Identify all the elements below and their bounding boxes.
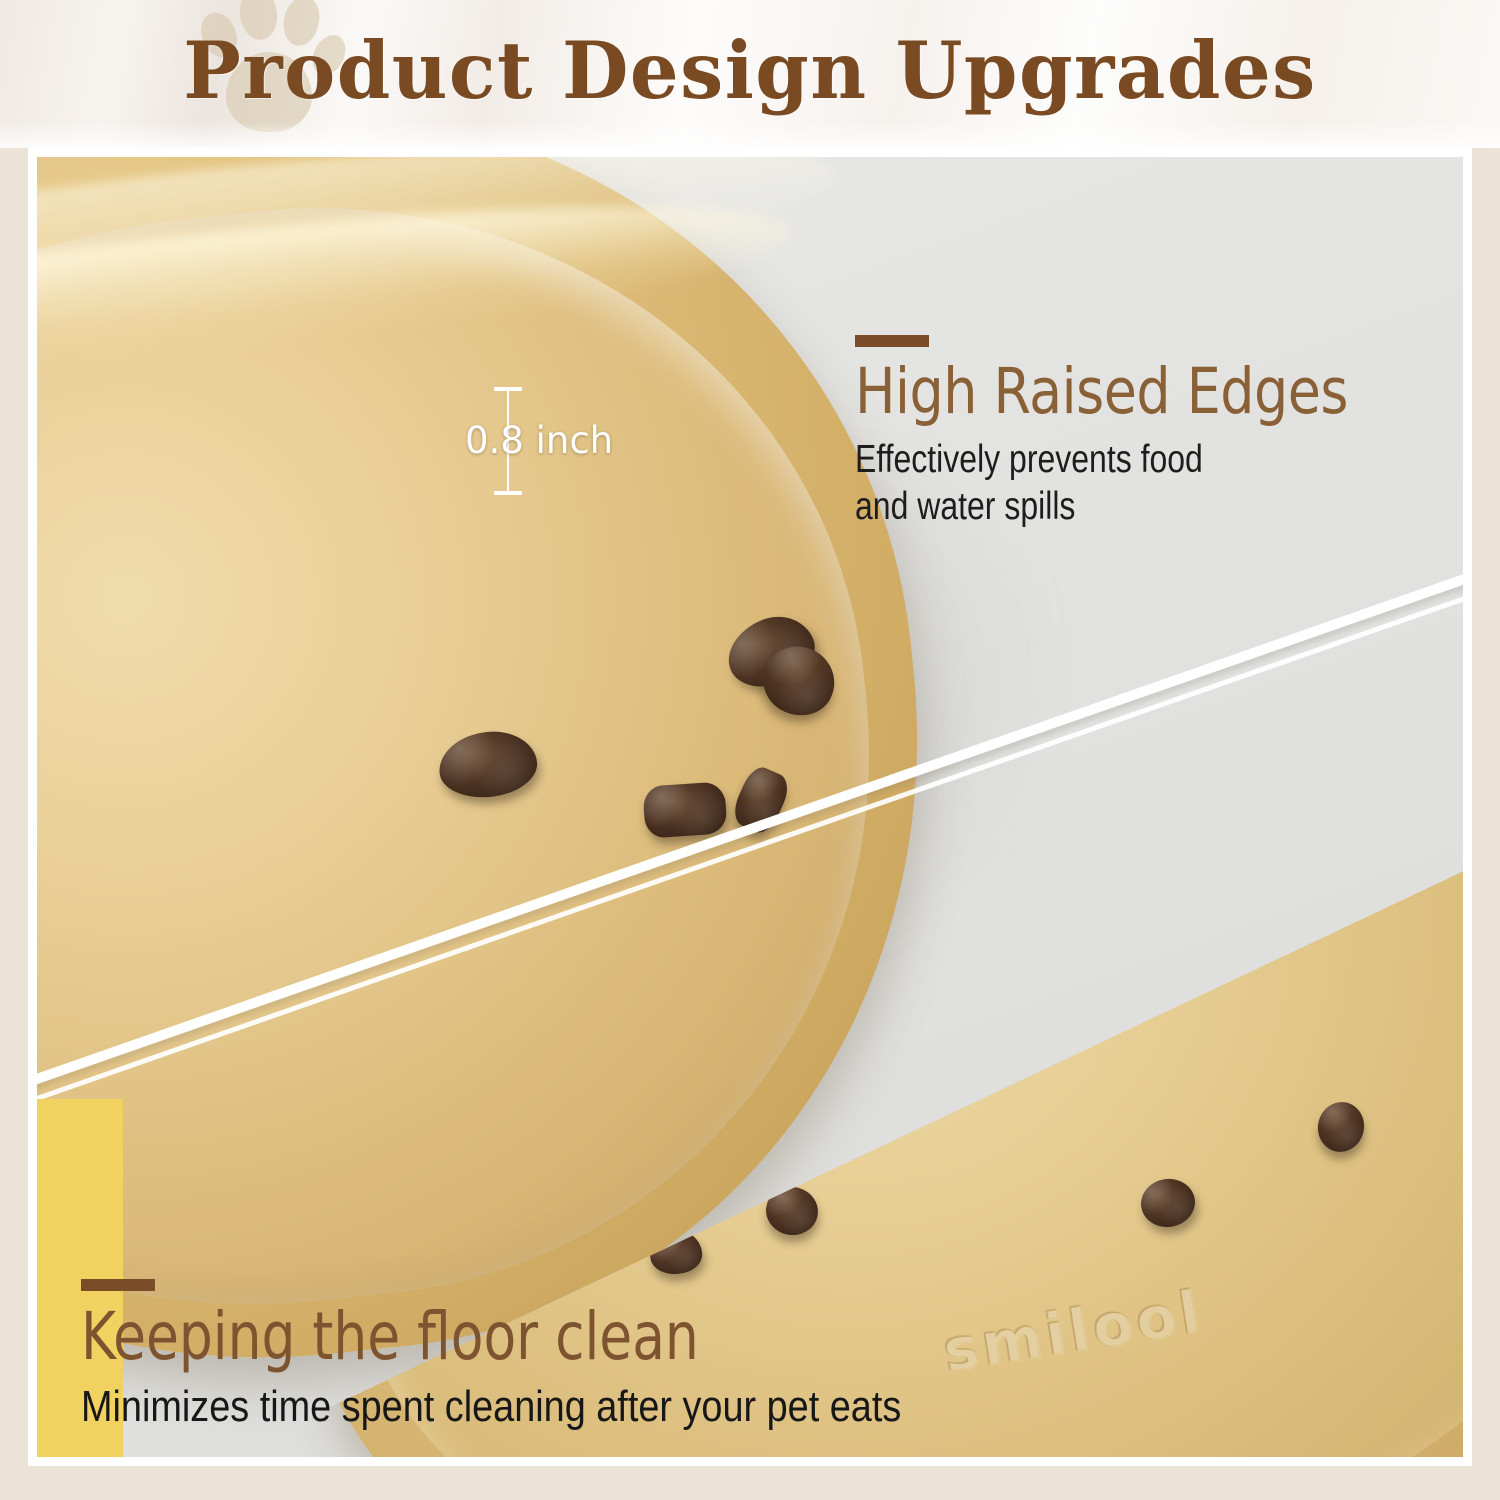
callout-keeping-floor-clean: Keeping the floor clean Minimizes time s…	[81, 1279, 1331, 1432]
callout-subtext: Effectively prevents food and water spil…	[855, 437, 1463, 531]
dimension-cap-bottom	[494, 491, 522, 495]
infographic-page: Product Design Upgrades 0.8 inch	[0, 0, 1500, 1500]
dimension-label: 0.8 inch	[465, 419, 613, 462]
callout-rule	[855, 335, 929, 347]
callout-high-raised-edges: High Raised Edges Effectively prevents f…	[855, 335, 1463, 531]
callout-subtext: Minimizes time spent cleaning after your…	[81, 1382, 1156, 1432]
product-photo: 0.8 inch smilool High Raise	[37, 157, 1463, 1457]
callout-subtext-line-2: and water spills	[855, 484, 1463, 531]
callout-headline: Keeping the floor clean	[81, 1303, 1206, 1372]
callout-headline: High Raised Edges	[855, 359, 1463, 425]
kibble-piece	[642, 781, 727, 839]
callout-subtext-line-1: Effectively prevents food	[855, 437, 1463, 484]
product-photo-frame: 0.8 inch smilool High Raise	[28, 148, 1472, 1466]
callout-rule	[81, 1279, 155, 1291]
dimension-cap-top	[494, 387, 522, 391]
page-title: Product Design Upgrades	[23, 0, 1478, 142]
